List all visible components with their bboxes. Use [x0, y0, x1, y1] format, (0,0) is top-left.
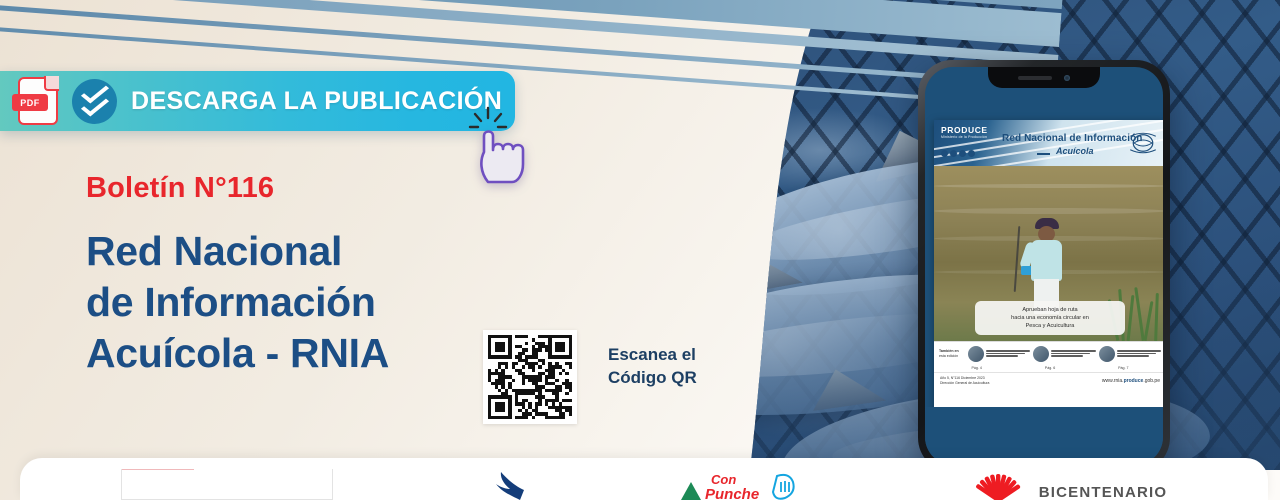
qr-code-matrix — [488, 335, 572, 419]
headline-line-1: Aprueban hoja de ruta — [981, 306, 1119, 314]
newsletter-footer: Año 5, N°116 Diciembre 2023 Dirección Ge… — [934, 372, 1163, 391]
issue-number: Boletín N°116 — [86, 172, 274, 205]
qr-code[interactable] — [483, 330, 577, 424]
youtube-icon — [968, 150, 975, 157]
website-url: www.rnia.produce.gob.pe — [1102, 378, 1160, 384]
issue-meta: Año 5, N°116 Diciembre 2023 Dirección Ge… — [940, 376, 989, 386]
title-divider — [1037, 153, 1050, 155]
svg-text:Punche: Punche — [705, 486, 759, 500]
social-icons — [941, 150, 975, 157]
newsletter-page: PRODUCE Ministerio de la Producción Red … — [934, 120, 1163, 415]
dolphin-icon — [482, 470, 526, 500]
speaker-grill-icon — [1018, 76, 1052, 80]
front-camera-icon — [1064, 75, 1070, 81]
newsletter-header-subtitle: Acuícola — [1056, 146, 1094, 156]
download-chevron-icon[interactable] — [72, 79, 117, 124]
newsletter-header-title: Red Nacional de Información — [1002, 133, 1143, 144]
pdf-file-icon: PDF — [18, 77, 58, 125]
rnia-fish-logo-icon — [1128, 130, 1158, 156]
page-ref: Pág. 6 — [1045, 366, 1055, 370]
phone-notch — [988, 67, 1100, 88]
technician-figure — [1030, 218, 1064, 314]
phone-screen: PRODUCE Ministerio de la Producción Red … — [925, 67, 1163, 465]
headline-line-3: Pesca y Acuicultura — [981, 322, 1119, 330]
teaser-item — [968, 346, 1030, 362]
newsletter-hero-photo: Aprueban hoja de ruta hacia una economía… — [934, 166, 1163, 341]
title-line-2: de Información — [86, 277, 389, 328]
page-ref: Pág. 4 — [971, 366, 981, 370]
sponsor-logo-bar: Con Punche — [20, 458, 1268, 500]
download-button-label: DESCARGA LA PUBLICACIÓN — [131, 87, 502, 116]
headline-callout: Aprueban hoja de ruta hacia una economía… — [975, 301, 1125, 335]
logo-bicentenario: BICENTENARIO — [965, 458, 1168, 500]
bicentenario-label: BICENTENARIO — [1039, 485, 1168, 500]
page-title: Red Nacional de Información Acuícola - R… — [86, 226, 389, 378]
title-line-3: Acuícola - RNIA — [86, 328, 389, 379]
teaser-thumbnail — [968, 346, 984, 362]
instagram-icon — [959, 150, 966, 157]
pointing-hand-cursor-icon — [472, 108, 546, 186]
newsletter-masthead: PRODUCE Ministerio de la Producción Red … — [934, 120, 1163, 166]
qr-caption-line-1: Escanea el — [608, 344, 697, 367]
teaser-thumbnail — [1033, 346, 1049, 362]
logo-produce-ministry — [121, 458, 333, 500]
produce-wordmark: PRODUCE — [941, 125, 988, 135]
teaser-thumbnail — [1099, 346, 1115, 362]
twitter-icon — [950, 150, 957, 157]
pdf-badge-label: PDF — [12, 94, 48, 111]
also-in-this-issue-label: También en esta edición — [939, 349, 965, 358]
produce-logo: PRODUCE Ministerio de la Producción — [941, 125, 988, 139]
produce-tagline: Ministerio de la Producción — [941, 135, 988, 139]
bicentenario-rays-icon — [965, 470, 1031, 500]
screen-background-bottom — [925, 407, 1163, 465]
svg-text:Con: Con — [711, 472, 736, 487]
banner-stage: PRODUCE Ministerio de la Producción Red … — [0, 0, 1280, 500]
logo-dolphin — [482, 458, 526, 500]
qr-caption: Escanea el Código QR — [608, 344, 697, 390]
newsletter-teaser-row: También en esta edición — [934, 341, 1163, 366]
logo-con-punche-peru: Con Punche — [675, 458, 815, 500]
qr-caption-line-2: Código QR — [608, 367, 697, 390]
con-punche-peru-icon: Con Punche — [675, 470, 815, 500]
teaser-item — [1099, 346, 1161, 362]
facebook-icon — [941, 150, 948, 157]
phone-mockup: PRODUCE Ministerio de la Producción Red … — [918, 60, 1170, 472]
title-line-1: Red Nacional — [86, 226, 389, 277]
headline-line-2: hacia una economía circular en — [981, 314, 1119, 322]
download-publication-button[interactable]: PDF DESCARGA LA PUBLICACIÓN — [0, 71, 515, 131]
page-ref: Pág. 7 — [1118, 366, 1128, 370]
teaser-item — [1033, 346, 1095, 362]
